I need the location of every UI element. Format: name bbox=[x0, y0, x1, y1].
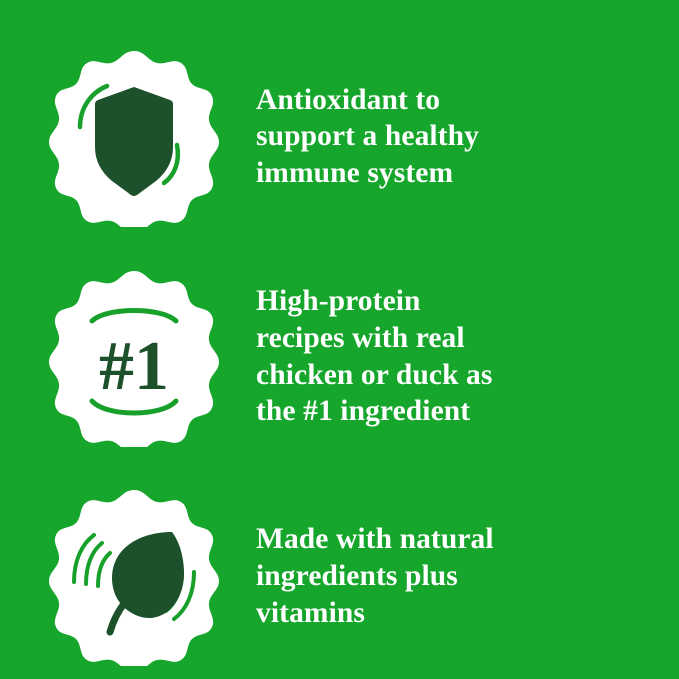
badge-antioxidant bbox=[44, 47, 224, 227]
benefit-row-natural: Made with natural ingredients plus vitam… bbox=[0, 473, 679, 679]
number-one-icon: #1 bbox=[99, 328, 169, 405]
benefit-row-antioxidant: Antioxidant to support a healthy immune … bbox=[0, 34, 679, 240]
benefit-line: High-protein bbox=[256, 283, 492, 320]
benefit-row-protein: #1 High-protein recipes with real chicke… bbox=[0, 254, 679, 460]
benefit-line: Antioxidant to bbox=[256, 82, 479, 119]
benefit-line: vitamins bbox=[256, 595, 494, 632]
benefit-text-natural: Made with natural ingredients plus vitam… bbox=[256, 521, 494, 632]
benefits-infographic: Antioxidant to support a healthy immune … bbox=[0, 0, 679, 679]
benefit-text-protein: High-protein recipes with real chicken o… bbox=[256, 283, 492, 431]
benefit-line: Made with natural bbox=[256, 521, 494, 558]
badge-natural bbox=[44, 486, 224, 666]
benefit-line: ingredients plus bbox=[256, 558, 494, 595]
benefit-line: recipes with real bbox=[256, 320, 492, 357]
benefit-line: the #1 ingredient bbox=[256, 393, 492, 430]
benefit-line: immune system bbox=[256, 155, 479, 192]
number-one-badge-graphic: #1 bbox=[44, 267, 224, 447]
benefit-line: chicken or duck as bbox=[256, 357, 492, 394]
shield-badge-graphic bbox=[44, 47, 224, 227]
leaf-badge-graphic bbox=[44, 486, 224, 666]
benefit-line: support a healthy bbox=[256, 118, 479, 155]
badge-protein: #1 bbox=[44, 267, 224, 447]
benefit-text-antioxidant: Antioxidant to support a healthy immune … bbox=[256, 82, 479, 193]
